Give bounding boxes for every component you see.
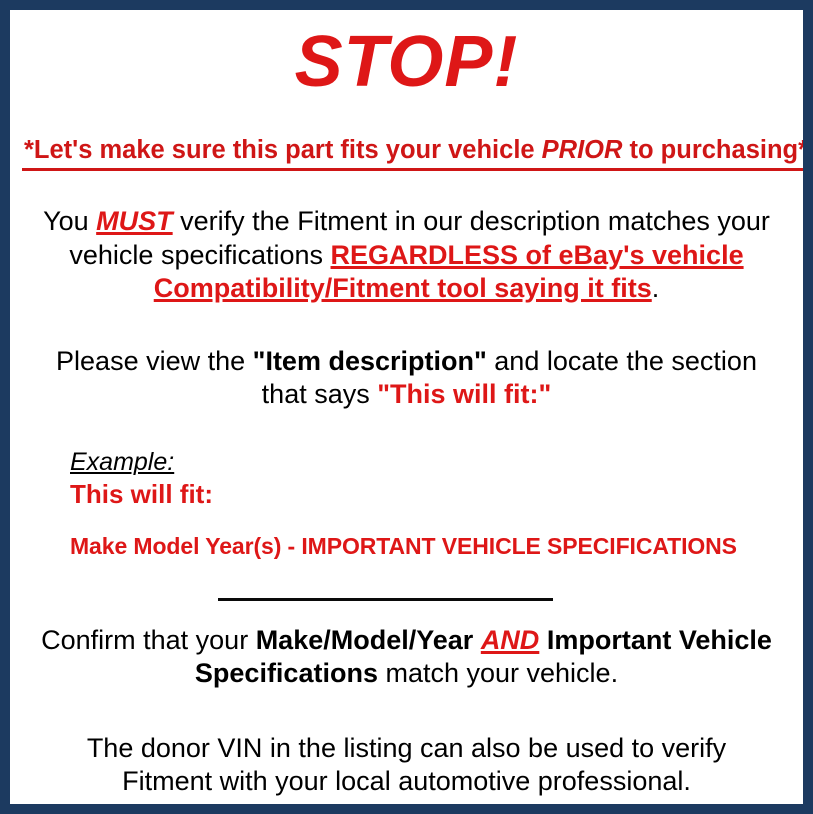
paragraph-item-description: Please view the "Item description" and l… bbox=[22, 345, 791, 411]
emphasis-must: MUST bbox=[96, 206, 173, 236]
example-fit-heading: This will fit: bbox=[70, 480, 791, 509]
must-para-part3: . bbox=[652, 273, 660, 303]
must-para-part1: You bbox=[43, 206, 96, 236]
banner-prefix-text: *Let's make sure this part fits your veh… bbox=[24, 136, 542, 164]
example-block: Example: This will fit: Make Model Year(… bbox=[22, 449, 791, 559]
fitment-notice-card: STOP! *Let's make sure this part fits yo… bbox=[0, 0, 813, 814]
emphasis-and: AND bbox=[481, 625, 540, 655]
banner-suffix-text: to purchasing* bbox=[622, 136, 808, 164]
banner-emphasis-prior: PRIOR bbox=[542, 136, 623, 164]
section-divider bbox=[218, 598, 553, 601]
paragraph-donor-vin: The donor VIN in the listing can also be… bbox=[22, 732, 791, 798]
confirm-para-part1: Confirm that your bbox=[41, 625, 256, 655]
fitment-banner: *Let's make sure this part fits your veh… bbox=[22, 136, 810, 171]
banner-row: *Let's make sure this part fits your veh… bbox=[22, 98, 791, 171]
paragraph-confirm: Confirm that your Make/Model/Year AND Im… bbox=[22, 624, 791, 690]
example-spec-line: Make Model Year(s) - IMPORTANT VEHICLE S… bbox=[70, 534, 791, 559]
desc-para-part1: Please view the bbox=[56, 346, 253, 376]
emphasis-this-will-fit: "This will fit:" bbox=[377, 379, 551, 409]
emphasis-make-model-year: Make/Model/Year bbox=[256, 625, 474, 655]
emphasis-item-description: "Item description" bbox=[253, 346, 487, 376]
paragraph-must-verify: You MUST verify the Fitment in our descr… bbox=[22, 205, 791, 305]
confirm-para-part2: match your vehicle. bbox=[378, 658, 618, 688]
example-label-row: Example: bbox=[70, 449, 791, 477]
notice-body: STOP! *Let's make sure this part fits yo… bbox=[10, 26, 803, 814]
page-title: STOP! bbox=[22, 26, 791, 98]
divider-row bbox=[22, 588, 791, 600]
example-label: Example: bbox=[70, 449, 174, 477]
